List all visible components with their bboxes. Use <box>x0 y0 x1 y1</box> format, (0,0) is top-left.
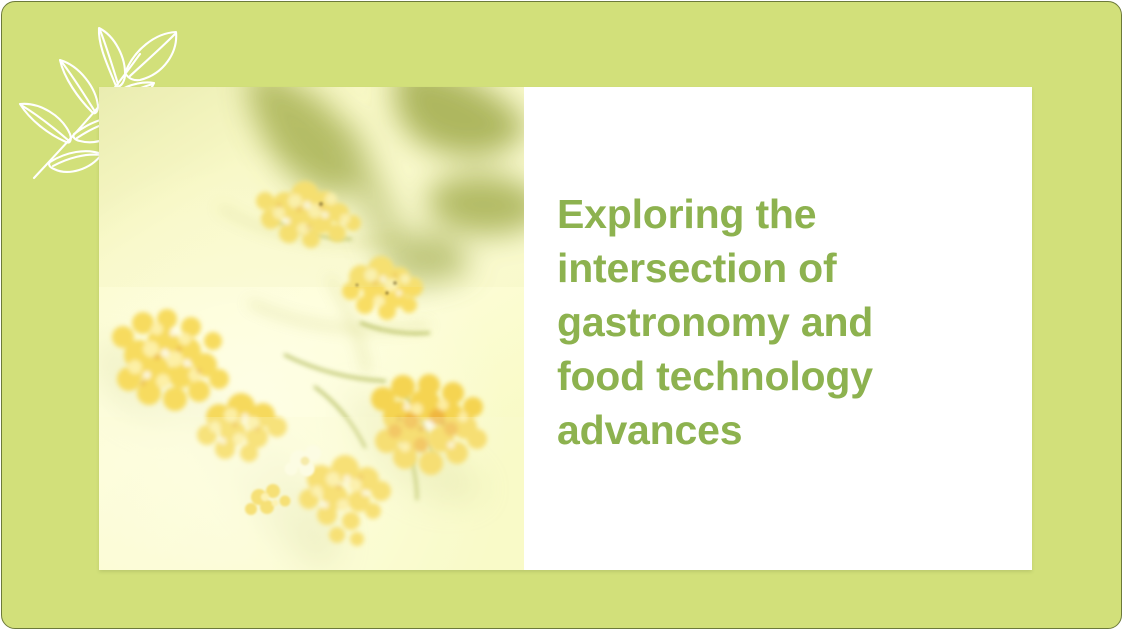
content-card: Exploring the intersection of gastronomy… <box>99 87 1032 570</box>
title-line: Exploring the <box>557 187 957 241</box>
title-line: food technology <box>557 349 957 403</box>
slide-title: Exploring the intersection of gastronomy… <box>557 187 957 457</box>
title-line: intersection of <box>557 241 957 295</box>
slide-canvas: Exploring the intersection of gastronomy… <box>1 1 1122 629</box>
title-line: gastronomy and <box>557 295 957 349</box>
slide-photo <box>99 87 524 570</box>
title-line: advances <box>557 403 957 457</box>
